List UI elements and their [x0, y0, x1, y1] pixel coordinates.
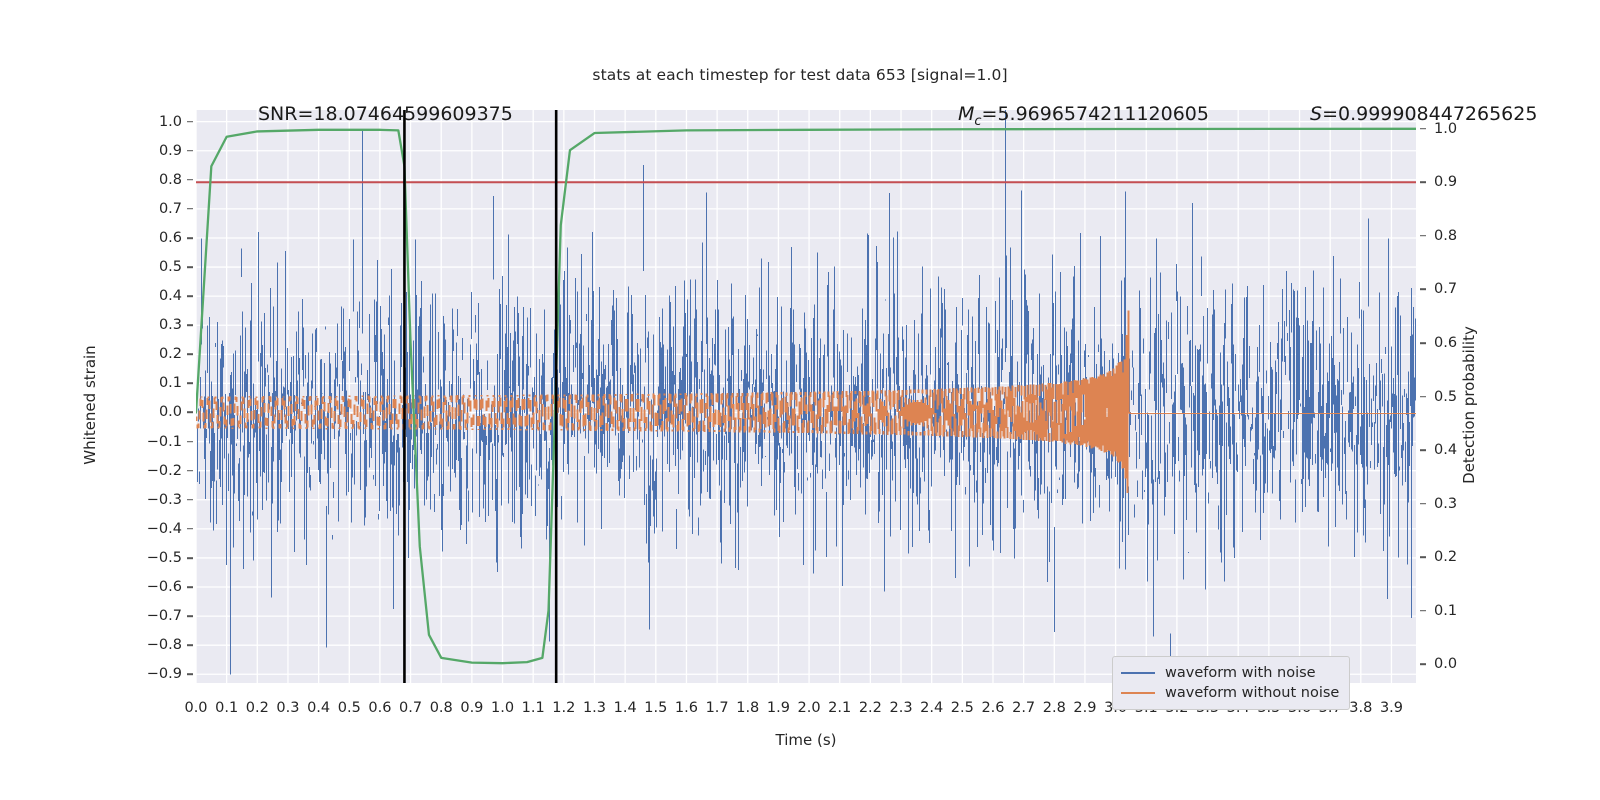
y-axis-left-tick-mark — [187, 470, 193, 472]
y-axis-left-tick-mark — [187, 150, 193, 152]
y-axis-left-label: Whitened strain — [81, 255, 99, 555]
y-axis-left-tick-label: 0.2 — [132, 346, 182, 362]
y-axis-right-tick-mark — [1420, 503, 1426, 505]
chirp-mass-equals: = — [982, 103, 998, 125]
y-axis-left-tick-mark — [187, 295, 193, 297]
y-axis-right-tick-mark — [1420, 449, 1426, 451]
y-axis-right-tick-mark — [1420, 128, 1426, 130]
plot-axes — [196, 110, 1416, 683]
y-axis-right-tick-label: 0.9 — [1434, 174, 1494, 190]
score-value: 0.999908447265625 — [1338, 103, 1537, 125]
y-axis-right-tick-mark — [1420, 556, 1426, 558]
y-axis-right-tick-mark — [1420, 610, 1426, 612]
chirp-mass-subscript: c — [974, 114, 981, 129]
legend-item-waveform-without-noise: waveform without noise — [1121, 683, 1339, 703]
y-axis-left-tick-mark — [187, 499, 193, 501]
y-axis-left-tick-mark — [187, 615, 193, 617]
y-axis-left-tick-label: 1.0 — [132, 114, 182, 130]
legend-item-waveform-with-noise: waveform with noise — [1121, 663, 1339, 683]
y-axis-right-tick-mark — [1420, 342, 1426, 344]
y-axis-left-tick-label: 0.4 — [132, 288, 182, 304]
y-axis-left-tick-mark — [187, 354, 193, 356]
y-axis-left-tick-label: −0.3 — [132, 492, 182, 508]
y-axis-left-tick-label: −0.2 — [132, 463, 182, 479]
y-axis-left-tick-mark — [187, 557, 193, 559]
y-axis-left-tick-mark — [187, 441, 193, 443]
chirp-mass-annotation: Mc=5.9696574211120605 — [958, 103, 1209, 129]
y-axis-right-tick-mark — [1420, 289, 1426, 291]
y-axis-left-tick-label: 0.1 — [132, 375, 182, 391]
x-axis-tick-label: 3.9 — [1371, 700, 1411, 716]
score-annotation: S=0.999908447265625 — [1310, 103, 1537, 125]
chirp-mass-symbol: M — [958, 103, 974, 125]
y-axis-left-tick-label: 0.6 — [132, 230, 182, 246]
y-axis-left-tick-label: −0.4 — [132, 521, 182, 537]
y-axis-right-tick-label: 0.0 — [1434, 656, 1494, 672]
legend-label: waveform with noise — [1165, 665, 1316, 681]
y-axis-left-tick-label: −0.1 — [132, 434, 182, 450]
y-axis-left-tick-mark — [187, 237, 193, 239]
y-axis-left-tick-label: 0.5 — [132, 259, 182, 275]
legend-label: waveform without noise — [1165, 685, 1339, 701]
y-axis-left-tick-label: 0.0 — [132, 404, 182, 420]
y-axis-left-tick-label: 0.8 — [132, 172, 182, 188]
y-axis-right-tick-mark — [1420, 181, 1426, 183]
legend-line-icon — [1121, 672, 1155, 674]
y-axis-left-tick-label: −0.6 — [132, 579, 182, 595]
y-axis-left-tick-mark — [187, 586, 193, 588]
snr-annotation: SNR=18.07464599609375 — [258, 103, 513, 125]
y-axis-left-tick-mark — [187, 179, 193, 181]
y-axis-left-tick-mark — [187, 528, 193, 530]
chirp-mass-value: 5.9696574211120605 — [997, 103, 1209, 125]
y-axis-left-tick-label: −0.8 — [132, 637, 182, 653]
page-title: stats at each timestep for test data 653… — [0, 66, 1600, 84]
y-axis-left-tick-label: −0.9 — [132, 666, 182, 682]
legend: waveform with noise waveform without noi… — [1112, 656, 1350, 710]
y-axis-left-tick-mark — [187, 412, 193, 414]
y-axis-left-tick-mark — [187, 208, 193, 210]
y-axis-left-tick-mark — [187, 644, 193, 646]
y-axis-right-label: Detection probability — [1460, 255, 1478, 555]
y-axis-right-tick-mark — [1420, 235, 1426, 237]
y-axis-left-tick-mark — [187, 324, 193, 326]
y-axis-left-tick-mark — [187, 383, 193, 385]
y-axis-left-tick-mark — [187, 673, 193, 675]
score-symbol: S — [1310, 103, 1322, 125]
y-axis-left-tick-mark — [187, 121, 193, 123]
y-axis-right-tick-label: 0.1 — [1434, 603, 1494, 619]
y-axis-left-tick-mark — [187, 266, 193, 268]
figure-canvas: stats at each timestep for test data 653… — [0, 0, 1600, 800]
score-equals: = — [1322, 103, 1338, 125]
x-axis-label: Time (s) — [196, 731, 1416, 749]
plot-svg — [196, 110, 1416, 683]
y-axis-right-tick-mark — [1420, 396, 1426, 398]
y-axis-right-tick-label: 0.8 — [1434, 228, 1494, 244]
y-axis-left-tick-label: 0.9 — [132, 143, 182, 159]
legend-line-icon — [1121, 692, 1155, 694]
y-axis-left-tick-label: 0.7 — [132, 201, 182, 217]
y-axis-left-tick-label: −0.5 — [132, 550, 182, 566]
y-axis-left-tick-label: −0.7 — [132, 608, 182, 624]
y-axis-left-tick-label: 0.3 — [132, 317, 182, 333]
snr-text: SNR=18.07464599609375 — [258, 103, 513, 125]
y-axis-right-tick-mark — [1420, 663, 1426, 665]
